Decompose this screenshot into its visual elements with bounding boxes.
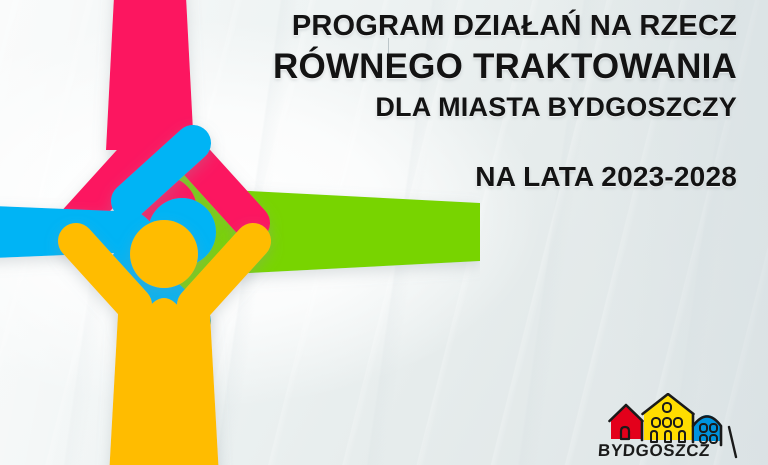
logo-house-red-icon <box>610 405 643 440</box>
headline-line-1: PROGRAM DZIAŁAŃ NA RZECZ <box>273 12 737 41</box>
bydgoszcz-city-logo: BYDGOSZCZ <box>596 393 746 459</box>
headline-block: PROGRAM DZIAŁAŃ NA RZECZ RÓWNEGO TRAKTOW… <box>273 2 737 191</box>
logo-house-yellow-icon <box>643 394 694 442</box>
logo-wordmark: BYDGOSZCZ <box>597 441 710 459</box>
headline-line-2: RÓWNEGO TRAKTOWANIA <box>273 49 737 84</box>
poster-canvas: PROGRAM DZIAŁAŃ NA RZECZ RÓWNEGO TRAKTOW… <box>0 0 768 465</box>
headline-line-3: DLA MIASTA BYDGOSZCZY <box>273 94 737 121</box>
figure-bottom <box>76 220 253 465</box>
headline-line-4: NA LATA 2023-2028 <box>273 163 737 191</box>
